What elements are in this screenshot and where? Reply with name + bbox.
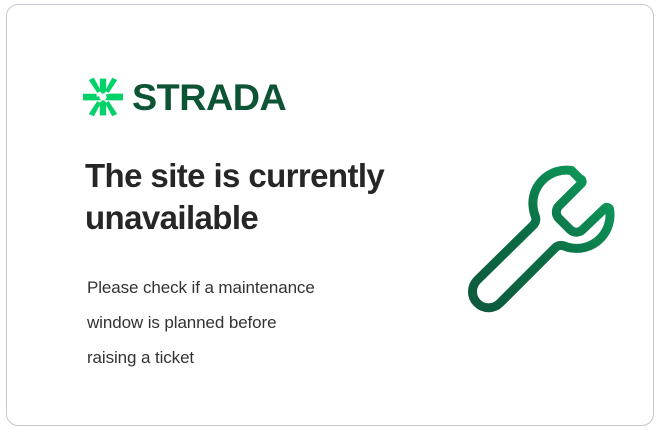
page-title: The site is currently unavailable — [85, 155, 415, 238]
wrench-icon — [459, 157, 625, 323]
wrench-illustration — [459, 157, 625, 323]
asterisk-star-mark-icon — [83, 77, 123, 117]
status-description-line: raising a ticket — [87, 341, 407, 376]
page-root: STRADA The site is currently unavailable… — [0, 0, 666, 436]
brand-logo: STRADA — [83, 73, 283, 121]
status-description: Please check if a maintenance window is … — [87, 271, 407, 376]
status-description-line: window is planned before — [87, 306, 407, 341]
status-card: STRADA The site is currently unavailable… — [6, 4, 654, 426]
brand-wordmark: STRADA — [132, 79, 286, 116]
status-description-line: Please check if a maintenance — [87, 271, 407, 306]
